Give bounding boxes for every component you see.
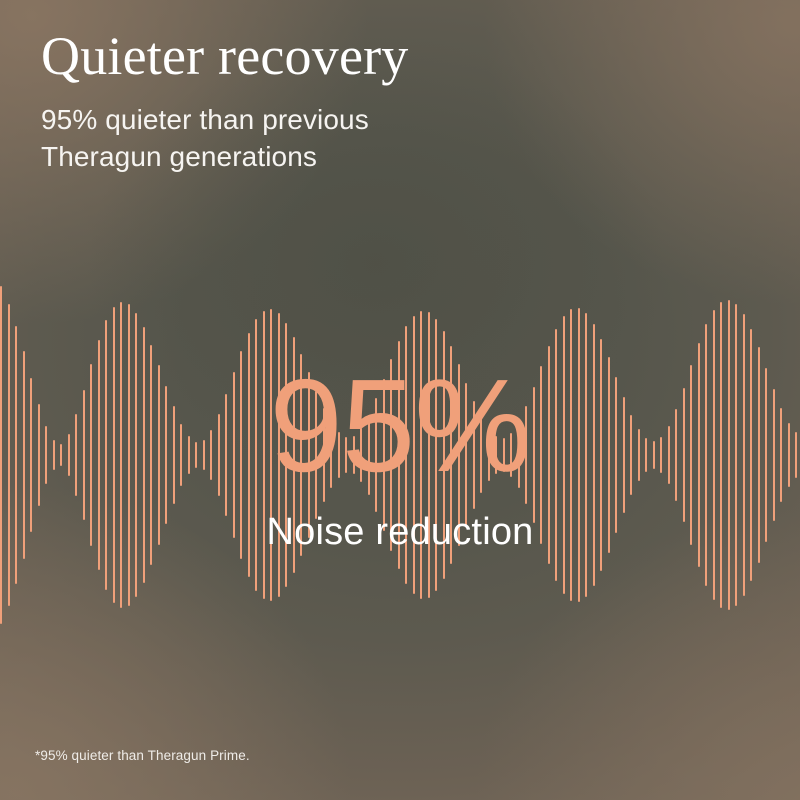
stat-caption: Noise reduction [0,510,800,556]
stat-value: 95% [0,360,800,492]
footnote: *95% quieter than Theragun Prime. [35,748,250,763]
subtitle: 95% quieter than previous Theragun gener… [41,101,369,175]
subtitle-line-2: Theragun generations [41,138,369,175]
noise-reduction-poster: Quieter recovery 95% quieter than previo… [0,0,800,800]
subtitle-line-1: 95% quieter than previous [41,101,369,138]
page-title: Quieter recovery [41,28,409,85]
text-content-layer: Quieter recovery 95% quieter than previo… [0,0,800,800]
stat-block: 95% Noise reduction [0,360,800,556]
